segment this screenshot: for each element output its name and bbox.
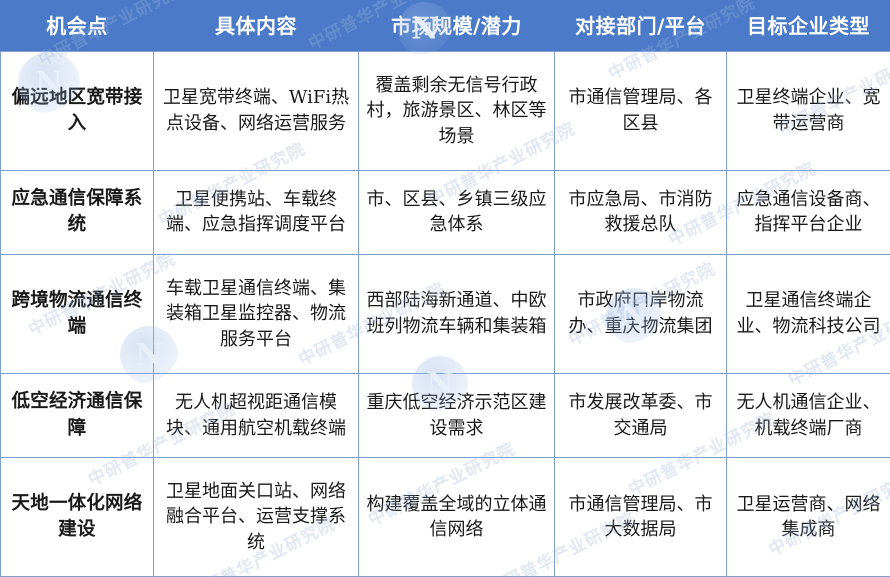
cell-market: 构建覆盖全域的立体通信网络 [359, 458, 555, 577]
cell-content: 卫星地面关口站、网络融合平台、运营支撑系统 [154, 458, 359, 577]
cell-content: 车载卫星通信终端、集装箱卫星监控器、物流服务平台 [154, 255, 359, 374]
cell-content: 卫星便携站、车载终端、应急指挥调度平台 [154, 170, 359, 254]
table-row: 应急通信保障系统 卫星便携站、车载终端、应急指挥调度平台 市、区县、乡镇三级应急… [1, 170, 890, 254]
opportunity-table: 机会点 具体内容 市场规模/潜力 对接部门/平台 目标企业类型 偏远地区宽带接入… [0, 0, 890, 577]
cell-opportunity: 跨境物流通信终端 [1, 255, 154, 374]
table-container: 中研普华产业研究院 中研普华产业研究院 中研普华产业研究院 中研普华产业研究院 … [0, 0, 890, 577]
cell-opportunity: 偏远地区宽带接入 [1, 52, 154, 171]
table-row: 天地一体化网络建设 卫星地面关口站、网络融合平台、运营支撑系统 构建覆盖全域的立… [1, 458, 890, 577]
column-header-department: 对接部门/平台 [555, 1, 727, 52]
cell-market: 重庆低空经济示范区建设需求 [359, 373, 555, 457]
column-header-opportunity: 机会点 [1, 1, 154, 52]
cell-department: 市通信管理局、市大数据局 [555, 458, 727, 577]
cell-target: 卫星运营商、网络集成商 [727, 458, 890, 577]
cell-department: 市应急局、市消防救援总队 [555, 170, 727, 254]
cell-content: 卫星宽带终端、WiFi热点设备、网络运营服务 [154, 52, 359, 171]
column-header-market: 市场规模/潜力 [359, 1, 555, 52]
table-row: 偏远地区宽带接入 卫星宽带终端、WiFi热点设备、网络运营服务 覆盖剩余无信号行… [1, 52, 890, 171]
table-row: 低空经济通信保障 无人机超视距通信模块、通用航空机载终端 重庆低空经济示范区建设… [1, 373, 890, 457]
cell-department: 市发展改革委、市交通局 [555, 373, 727, 457]
cell-target: 卫星终端企业、宽带运营商 [727, 52, 890, 171]
cell-opportunity: 应急通信保障系统 [1, 170, 154, 254]
table-header-row: 机会点 具体内容 市场规模/潜力 对接部门/平台 目标企业类型 [1, 1, 890, 52]
table-body: 偏远地区宽带接入 卫星宽带终端、WiFi热点设备、网络运营服务 覆盖剩余无信号行… [1, 52, 890, 577]
cell-target: 无人机通信企业、机载终端厂商 [727, 373, 890, 457]
table-header: 机会点 具体内容 市场规模/潜力 对接部门/平台 目标企业类型 [1, 1, 890, 52]
cell-department: 市政府口岸物流办、重庆物流集团 [555, 255, 727, 374]
table-row: 跨境物流通信终端 车载卫星通信终端、集装箱卫星监控器、物流服务平台 西部陆海新通… [1, 255, 890, 374]
column-header-content: 具体内容 [154, 1, 359, 52]
cell-target: 卫星通信终端企业、物流科技公司 [727, 255, 890, 374]
cell-opportunity: 低空经济通信保障 [1, 373, 154, 457]
cell-market: 西部陆海新通道、中欧班列物流车辆和集装箱 [359, 255, 555, 374]
cell-market: 覆盖剩余无信号行政村，旅游景区、林区等场景 [359, 52, 555, 171]
cell-target: 应急通信设备商、指挥平台企业 [727, 170, 890, 254]
cell-market: 市、区县、乡镇三级应急体系 [359, 170, 555, 254]
cell-department: 市通信管理局、各区县 [555, 52, 727, 171]
column-header-target: 目标企业类型 [727, 1, 890, 52]
cell-content: 无人机超视距通信模块、通用航空机载终端 [154, 373, 359, 457]
cell-opportunity: 天地一体化网络建设 [1, 458, 154, 577]
